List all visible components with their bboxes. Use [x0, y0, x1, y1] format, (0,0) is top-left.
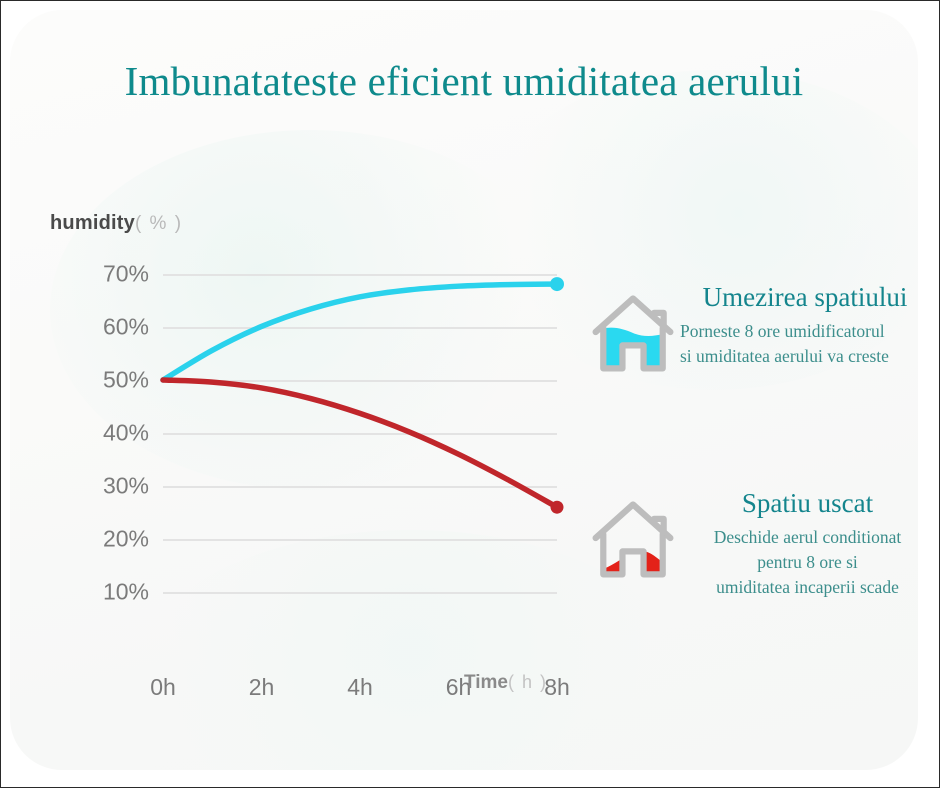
x-axis-label-text: Time [464, 672, 508, 693]
series-umezirea-line [163, 284, 557, 380]
x-tick-label: 4h [347, 674, 373, 701]
x-tick-label: 2h [249, 674, 275, 701]
humidity-chart: humidity( % ) 70%60%50%40%30%20%10% 0h2h… [32, 200, 592, 710]
x-axis-title: Time( h ) [464, 672, 548, 694]
feature-dry-desc-line-1: Deschide aerul conditionat [685, 525, 918, 550]
feature-humidify-title: Umezirea spatiului [680, 282, 918, 313]
feature-humidify-description: Porneste 8 ore umidificatorul si umidita… [680, 319, 918, 369]
feature-dry-text: Spatiu uscat Deschide aerul conditionat … [685, 488, 918, 600]
feature-humidify-desc-line-2: si umiditatea aerului va creste [680, 344, 918, 369]
chart-curves [32, 260, 592, 660]
x-tick-label: 0h [150, 674, 176, 701]
x-axis-unit: ( h ) [508, 672, 548, 692]
series-uscat-line [163, 380, 557, 507]
plot-area: 70%60%50%40%30%20%10% 0h2h4h6h8h [32, 260, 592, 660]
feature-dry-desc-line-3: umiditatea incaperii scade [685, 575, 918, 600]
house-dry-icon [585, 492, 681, 584]
feature-dry-title: Spatiu uscat [685, 488, 918, 519]
page-title: Imbunatateste eficient umiditatea aerulu… [10, 57, 918, 105]
y-axis-label-text: humidity [50, 212, 135, 234]
content-panel: Imbunatateste eficient umiditatea aerulu… [10, 10, 918, 770]
feature-dry-description: Deschide aerul conditionat pentru 8 ore … [685, 525, 918, 600]
series-umezirea-endpoint-marker [550, 277, 564, 291]
feature-dry-desc-line-2: pentru 8 ore si [685, 550, 918, 575]
house-humid-icon [585, 286, 681, 378]
y-axis-unit: ( % ) [135, 213, 183, 234]
series-uscat-endpoint-marker [551, 501, 564, 514]
feature-humidify-text: Umezirea spatiului Porneste 8 ore umidif… [680, 282, 918, 369]
slide-frame: Imbunatateste eficient umiditatea aerulu… [0, 0, 940, 788]
y-axis-title: humidity( % ) [50, 212, 183, 235]
feature-humidify-desc-line-1: Porneste 8 ore umidificatorul [680, 319, 918, 344]
x-tick-label: 8h [544, 674, 570, 701]
